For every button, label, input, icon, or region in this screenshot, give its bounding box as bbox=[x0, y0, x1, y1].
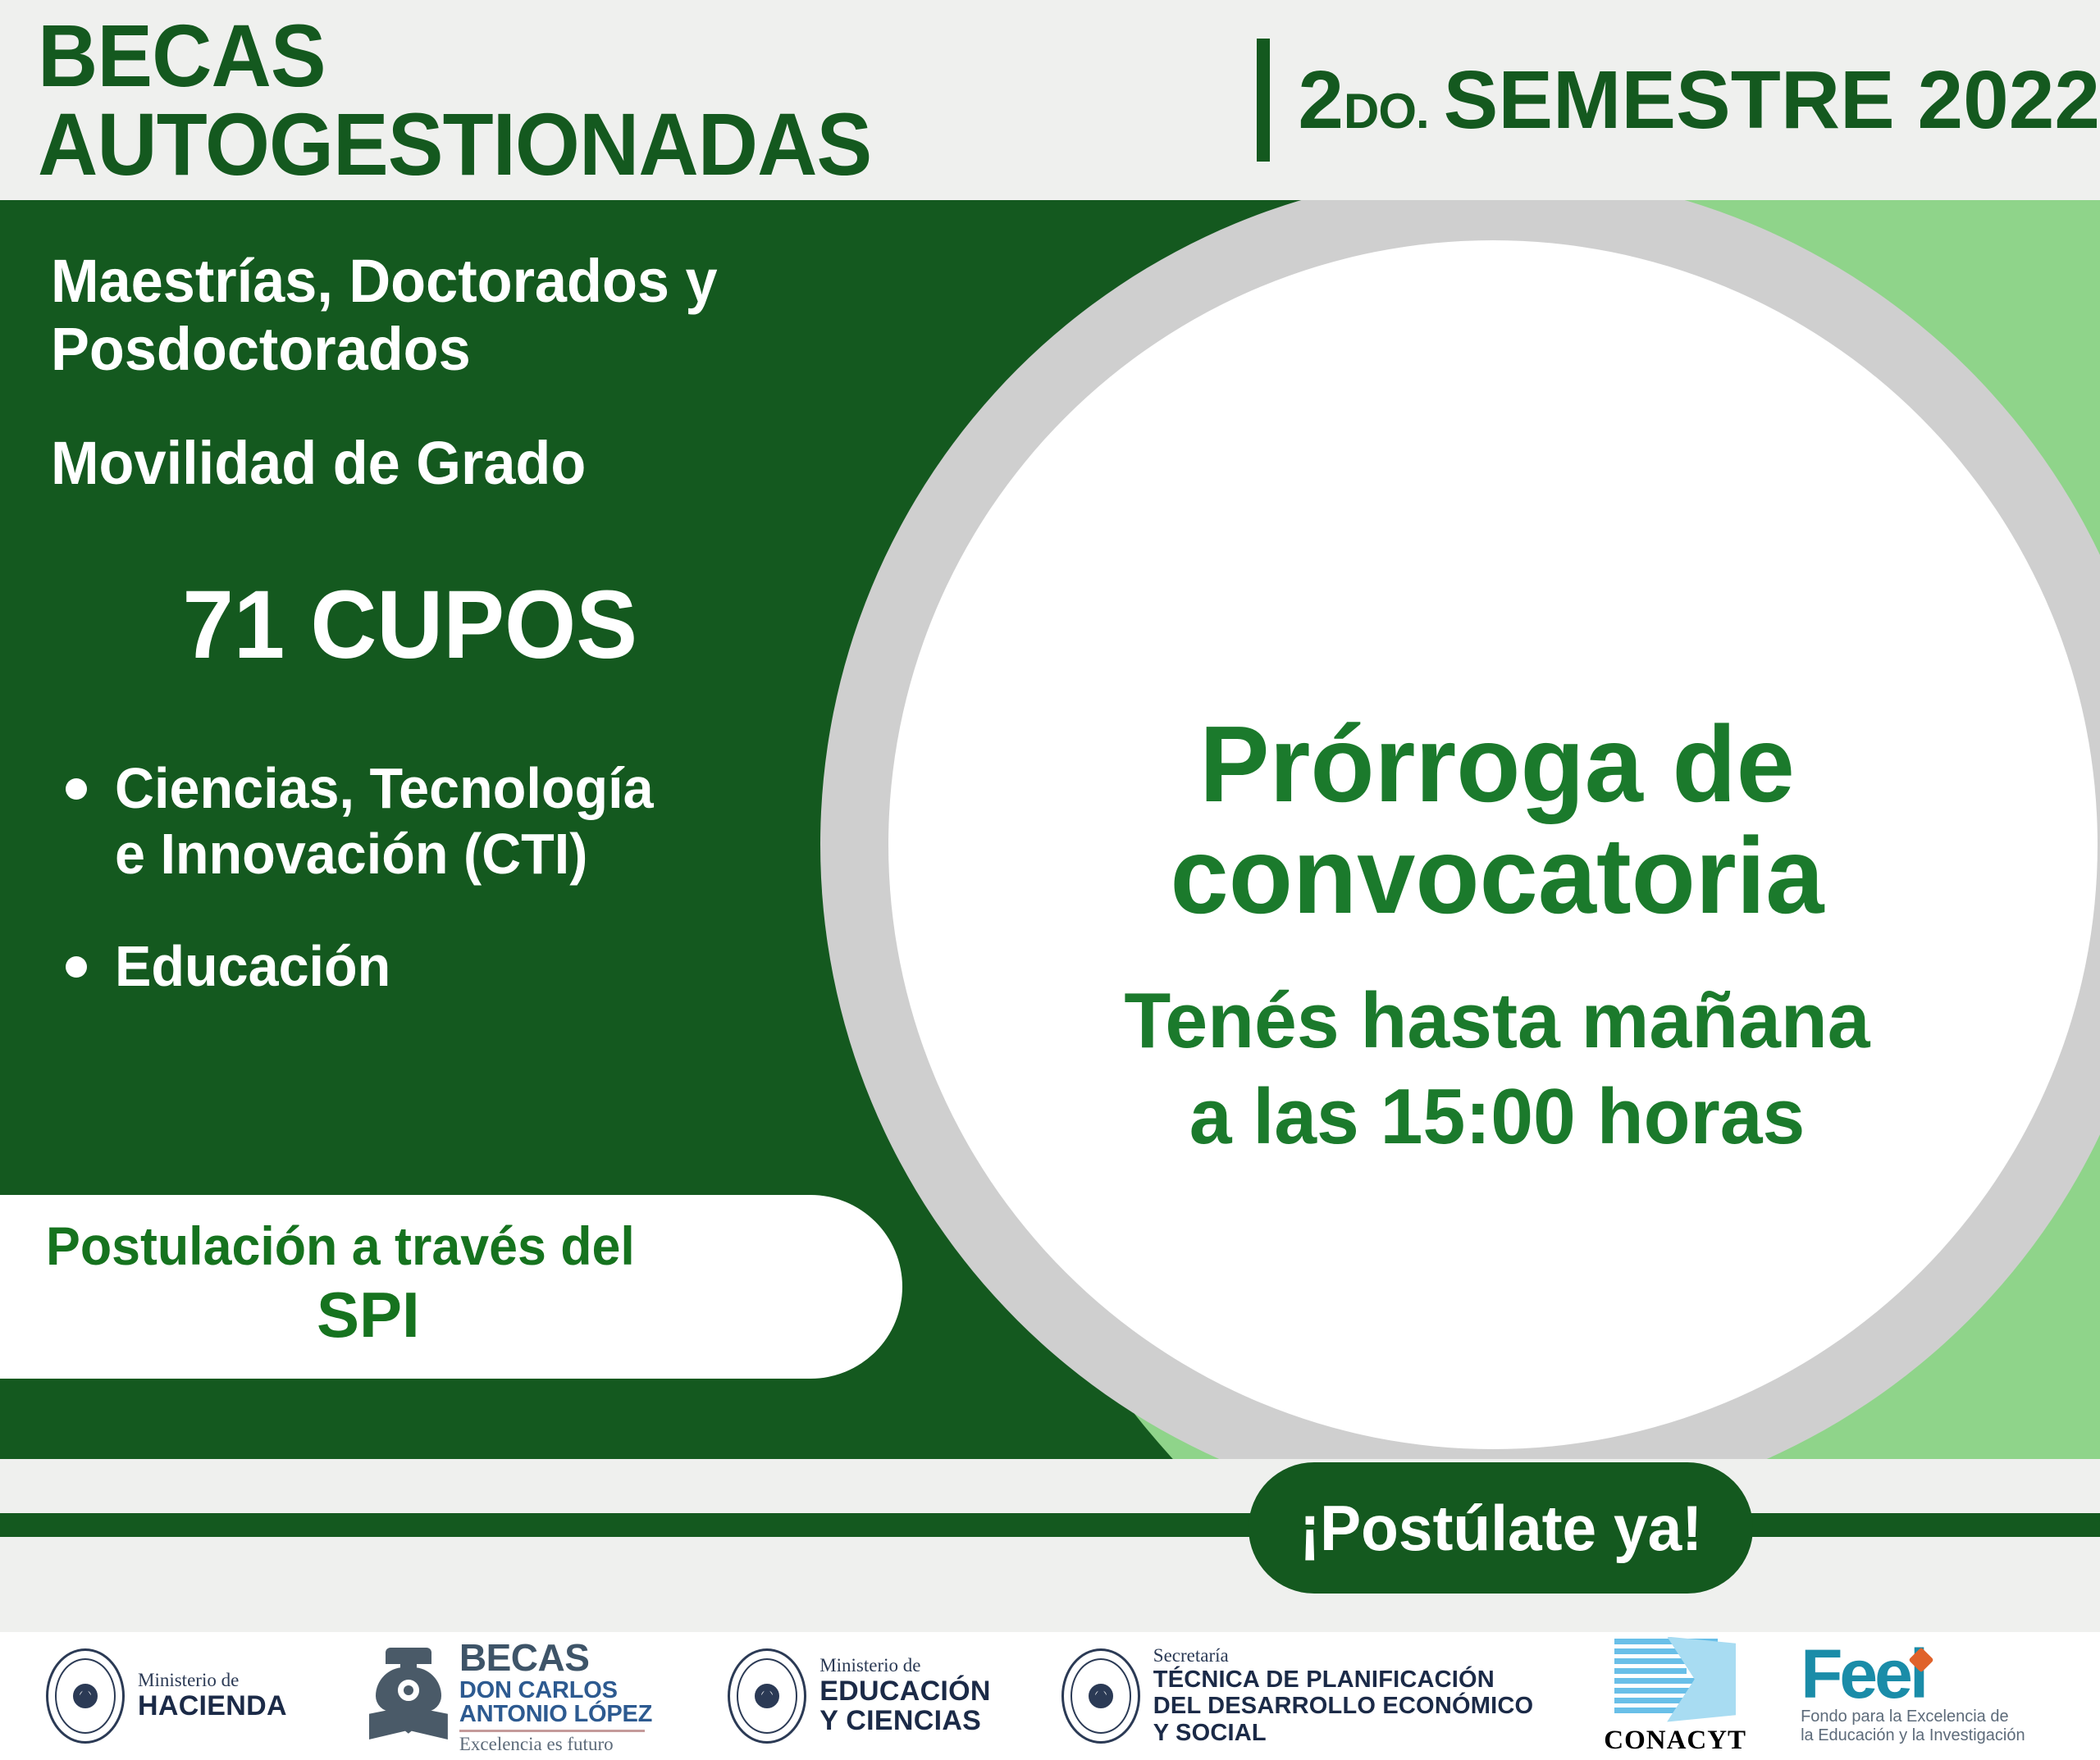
educacion-big1: EDUCACIÓN bbox=[819, 1676, 991, 1707]
paraguay-seal-icon bbox=[728, 1648, 806, 1744]
logo-stp: Secretaría TÉCNICA DE PLANIFICACIÓN DEL … bbox=[1061, 1646, 1533, 1746]
spi-label: Postulación a través del bbox=[46, 1216, 829, 1276]
green-rule-stripe bbox=[0, 1513, 2100, 1537]
stp-small: Secretaría bbox=[1153, 1646, 1533, 1667]
paraguay-seal-icon bbox=[46, 1648, 125, 1744]
logo-becas-don-carlos: BECAS DON CARLOS ANTONIO LÓPEZ Excelenci… bbox=[369, 1639, 652, 1753]
logo-ministerio-hacienda: Ministerio de HACIENDA bbox=[46, 1648, 287, 1744]
bullet-dot-icon bbox=[66, 778, 87, 800]
educacion-big2: Y CIENCIAS bbox=[819, 1706, 991, 1736]
logo-text: Secretaría TÉCNICA DE PLANIFICACIÓN DEL … bbox=[1153, 1646, 1533, 1746]
logo-conacyt: CONACYT bbox=[1604, 1637, 1746, 1756]
becas-tagline: Excelencia es futuro bbox=[459, 1735, 652, 1753]
deadline-line2: a las 15:00 horas bbox=[968, 1069, 2026, 1165]
semester-text: SEMESTRE 2022 bbox=[1444, 59, 2100, 141]
becas-line2: DON CARLOS bbox=[459, 1679, 652, 1703]
spi-acronym: SPI bbox=[46, 1280, 870, 1351]
spi-application-badge: Postulación a través del SPI bbox=[0, 1195, 902, 1379]
becas-line1: BECAS bbox=[459, 1639, 652, 1676]
extension-title-line2: convocatoria bbox=[968, 820, 2026, 932]
bullet-dot-icon bbox=[66, 956, 87, 978]
page-title: BECAS AUTOGESTIONADAS bbox=[38, 11, 1149, 189]
header-band: BECAS AUTOGESTIONADAS 2 DO. SEMESTRE 202… bbox=[0, 0, 2100, 200]
program-levels-line2: Posdoctorados bbox=[51, 316, 844, 384]
conacyt-bars-icon bbox=[1614, 1637, 1736, 1722]
logo-text: Ministerio de EDUCACIÓN Y CIENCIAS bbox=[819, 1656, 991, 1736]
main-stage: Maestrías, Doctorados y Posdoctorados Mo… bbox=[0, 200, 2100, 1459]
feei-wordmark: Feei bbox=[1801, 1646, 1925, 1703]
extension-title-line1: Prórroga de bbox=[968, 709, 2026, 820]
educacion-small: Ministerio de bbox=[819, 1656, 991, 1676]
postulate-cta-badge[interactable]: ¡Postúlate ya! bbox=[1249, 1462, 1753, 1594]
feei-word-text: Feei bbox=[1801, 1635, 1925, 1712]
becas-divider bbox=[459, 1730, 645, 1732]
area-line1: Ciencias, Tecnología bbox=[115, 755, 654, 822]
feei-tagline: Fondo para la Excelencia de la Educación… bbox=[1801, 1708, 2025, 1746]
extension-deadline: Tenés hasta mañana a las 15:00 horas bbox=[968, 973, 2026, 1165]
area-line1: Educación bbox=[115, 933, 390, 1000]
footer-logos: Ministerio de HACIENDA BECAS DON CARLOS … bbox=[0, 1632, 2100, 1760]
stp-big2: DEL DESARROLLO ECONÓMICO bbox=[1153, 1693, 1533, 1719]
paraguay-seal-icon bbox=[1061, 1648, 1140, 1744]
lower-band bbox=[0, 1537, 2100, 1632]
cupos-count: 71 CUPOS bbox=[71, 577, 865, 673]
header-semester: 2 DO. SEMESTRE 2022 bbox=[1298, 59, 2100, 141]
logo-text: Ministerio de HACIENDA bbox=[138, 1671, 287, 1721]
area-line2: e Innovación (CTI) bbox=[115, 821, 654, 887]
logo-feei: Feei Fondo para la Excelencia de la Educ… bbox=[1801, 1646, 2025, 1746]
extension-title: Prórroga de convocatoria bbox=[968, 709, 2026, 932]
mobility-heading: Movilidad de Grado bbox=[51, 430, 844, 498]
feei-tag-line2: la Educación y la Investigación bbox=[1801, 1726, 2025, 1746]
area-text: Ciencias, Tecnología e Innovación (CTI) bbox=[115, 755, 654, 887]
semester-number: 2 bbox=[1298, 59, 1344, 141]
becas-lamp-book-icon bbox=[369, 1648, 448, 1744]
logo-ministerio-educacion: Ministerio de EDUCACIÓN Y CIENCIAS bbox=[728, 1648, 991, 1744]
header-inner: BECAS AUTOGESTIONADAS 2 DO. SEMESTRE 202… bbox=[0, 11, 2100, 189]
extension-announcement: Prórroga de convocatoria Tenés hasta mañ… bbox=[952, 709, 2043, 1165]
hacienda-big: HACIENDA bbox=[138, 1691, 287, 1721]
stp-big1: TÉCNICA DE PLANIFICACIÓN bbox=[1153, 1667, 1533, 1693]
conacyt-label: CONACYT bbox=[1604, 1726, 1746, 1756]
area-text: Educación bbox=[115, 933, 390, 1000]
header-divider bbox=[1257, 39, 1271, 162]
lower-gap-band bbox=[0, 1459, 2100, 1513]
program-levels-line1: Maestrías, Doctorados y bbox=[51, 248, 844, 316]
program-levels-heading: Maestrías, Doctorados y Posdoctorados bbox=[51, 248, 844, 384]
hacienda-small: Ministerio de bbox=[138, 1671, 287, 1691]
semester-ordinal: DO. bbox=[1344, 87, 1429, 136]
stp-big3: Y SOCIAL bbox=[1153, 1720, 1533, 1746]
logo-text: BECAS DON CARLOS ANTONIO LÓPEZ Excelenci… bbox=[459, 1639, 652, 1753]
deadline-line1: Tenés hasta mañana bbox=[968, 973, 2026, 1069]
areas-list: Ciencias, Tecnología e Innovación (CTI) … bbox=[51, 755, 886, 1000]
becas-line3: ANTONIO LÓPEZ bbox=[459, 1703, 652, 1726]
list-item: Educación bbox=[51, 933, 886, 1000]
postulate-cta-label: ¡Postúlate ya! bbox=[1299, 1496, 1702, 1560]
list-item: Ciencias, Tecnología e Innovación (CTI) bbox=[51, 755, 886, 887]
